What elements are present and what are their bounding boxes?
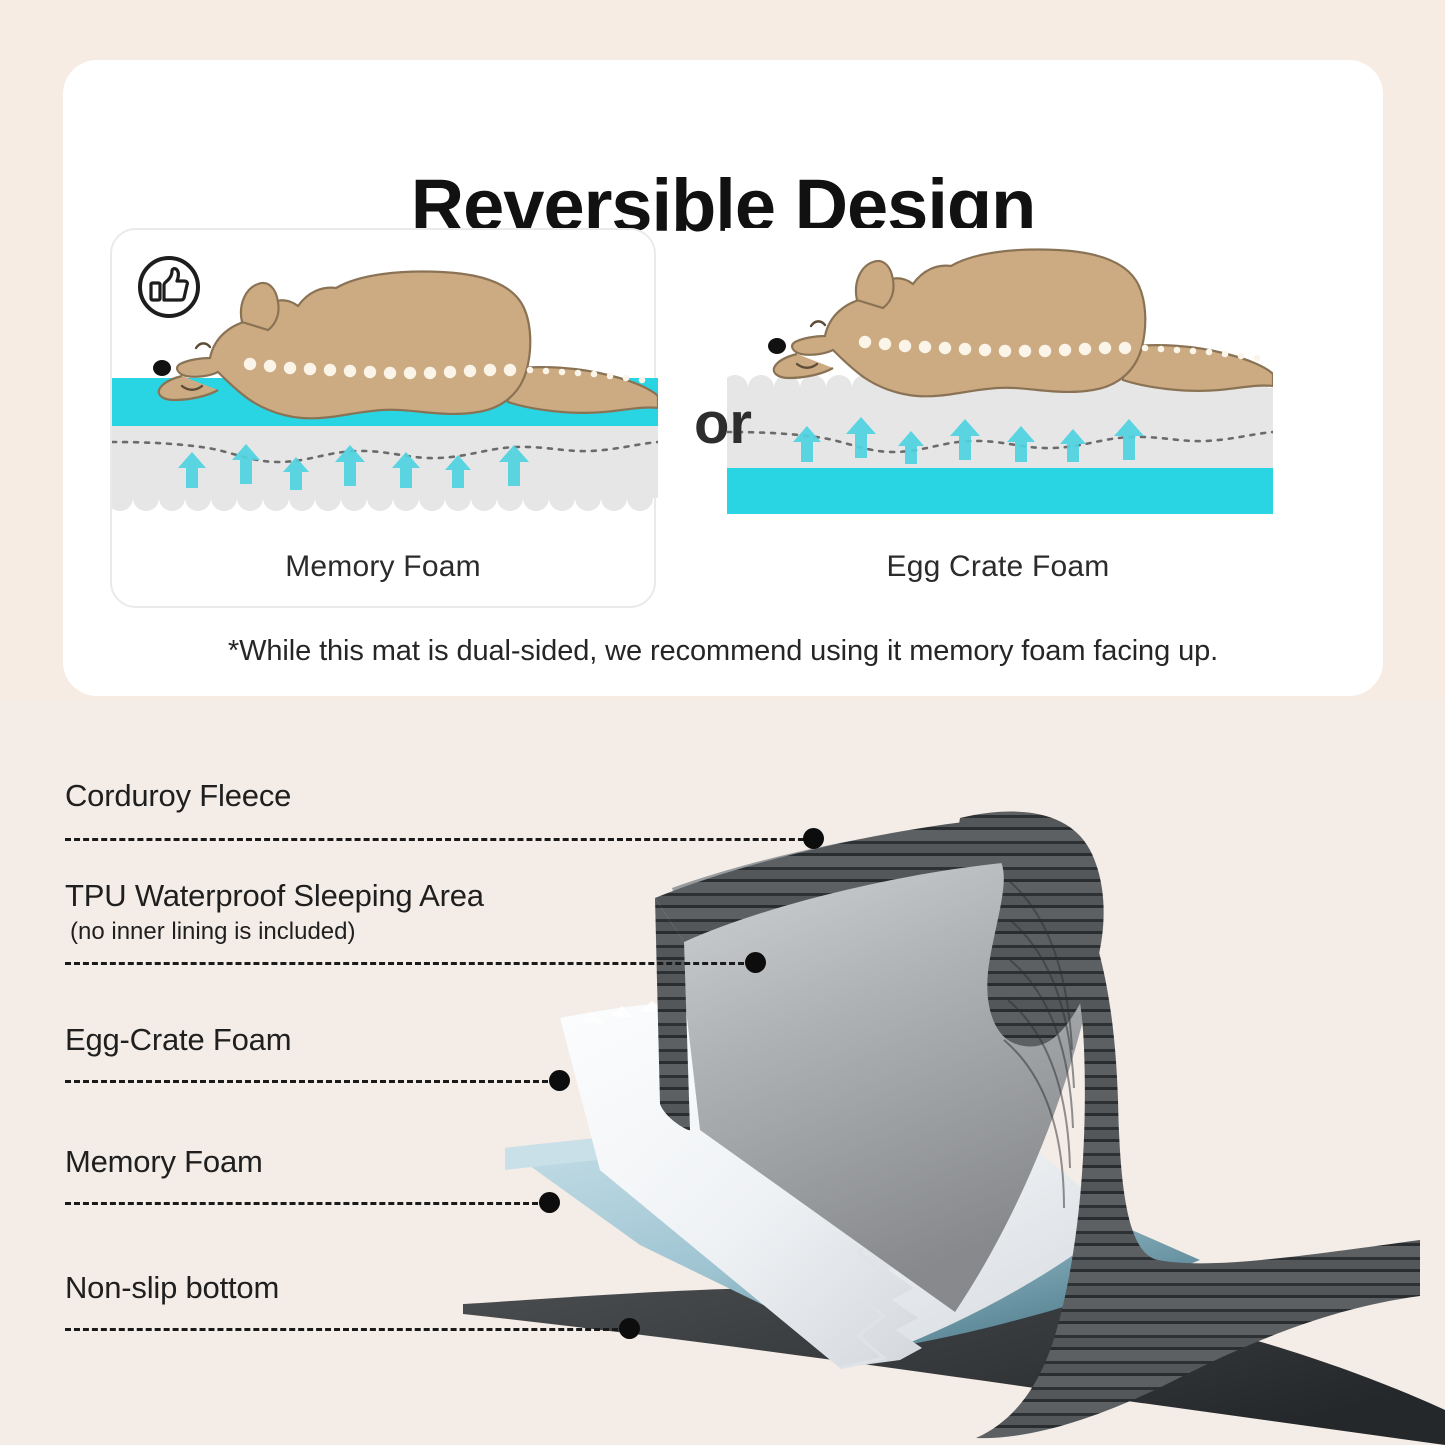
thumbs-up-icon [136, 254, 202, 320]
callout-label-tpu-sleeping-area: TPU Waterproof Sleeping Area [65, 878, 484, 914]
layer-diagram: Corduroy Fleece TPU Waterproof Sleeping … [0, 700, 1445, 1445]
panel-egg-crate-foam: Egg Crate Foam [725, 228, 1271, 608]
leader-dot-egg-crate-foam [549, 1070, 570, 1091]
leader-line-memory-foam [65, 1202, 547, 1205]
infographic-page: Reversible Design [0, 0, 1445, 1445]
leader-dot-non-slip-bottom [619, 1318, 640, 1339]
egg-crate-foam-illustration [727, 230, 1273, 550]
callout-label-non-slip-bottom: Non-slip bottom [65, 1270, 279, 1306]
leader-dot-memory-foam [539, 1192, 560, 1213]
leader-line-non-slip-bottom [65, 1328, 627, 1331]
leader-dot-corduroy-fleece [803, 828, 824, 849]
leader-dot-tpu-sleeping-area [745, 952, 766, 973]
leader-line-tpu-sleeping-area [65, 962, 753, 965]
leader-line-egg-crate-foam [65, 1080, 557, 1083]
reversible-design-card: Reversible Design [63, 60, 1383, 696]
callout-label-corduroy-fleece: Corduroy Fleece [65, 778, 291, 814]
leader-line-corduroy-fleece [65, 838, 813, 841]
card-footnote: *While this mat is dual-sided, we recomm… [63, 635, 1383, 668]
panel-caption-egg-crate-foam: Egg Crate Foam [727, 550, 1269, 584]
callout-sublabel-tpu-sleeping-area: (no inner lining is included) [70, 918, 356, 946]
divider-or-label: or [663, 390, 783, 457]
panel-caption-memory-foam: Memory Foam [112, 550, 654, 584]
panel-memory-foam: Memory Foam [110, 228, 656, 608]
callout-label-egg-crate-foam: Egg-Crate Foam [65, 1022, 291, 1058]
callout-label-memory-foam: Memory Foam [65, 1144, 263, 1180]
